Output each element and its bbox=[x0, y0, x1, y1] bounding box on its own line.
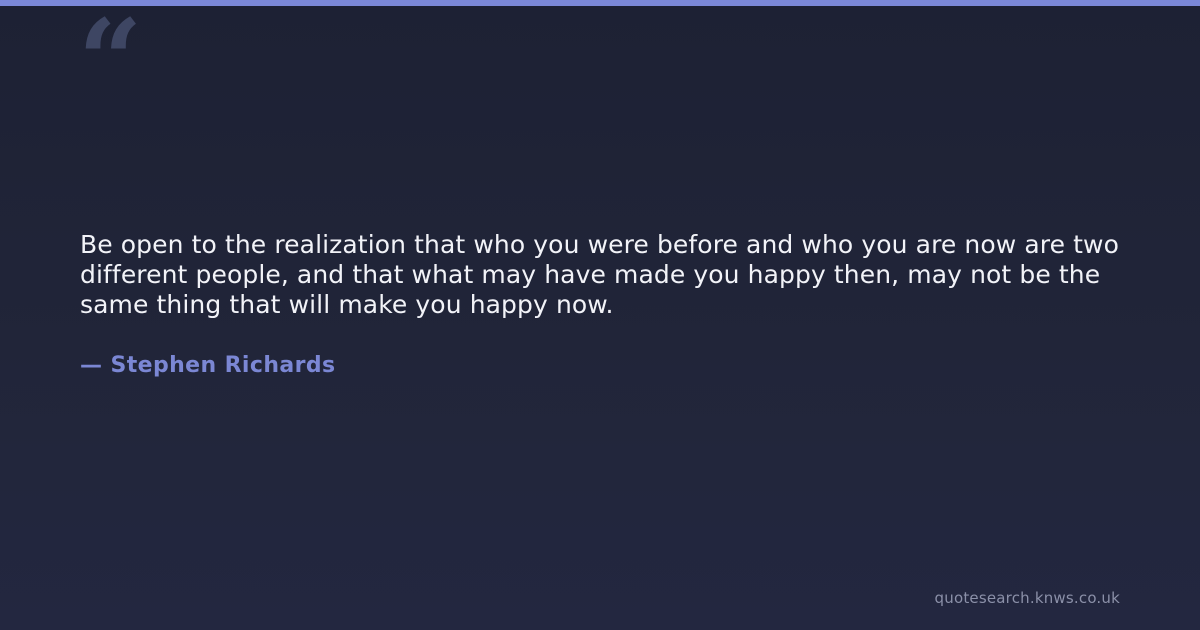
quote-author: — Stephen Richards bbox=[80, 320, 1125, 380]
quote-card: “ Be open to the realization that who yo… bbox=[0, 0, 1200, 630]
quote-text: Be open to the realization that who you … bbox=[80, 230, 1125, 320]
top-accent-bar bbox=[0, 0, 1200, 6]
site-url-label: quotesearch.knws.co.uk bbox=[935, 588, 1120, 608]
opening-quote-mark-icon: “ bbox=[78, 6, 140, 118]
quote-content: Be open to the realization that who you … bbox=[80, 230, 1125, 380]
